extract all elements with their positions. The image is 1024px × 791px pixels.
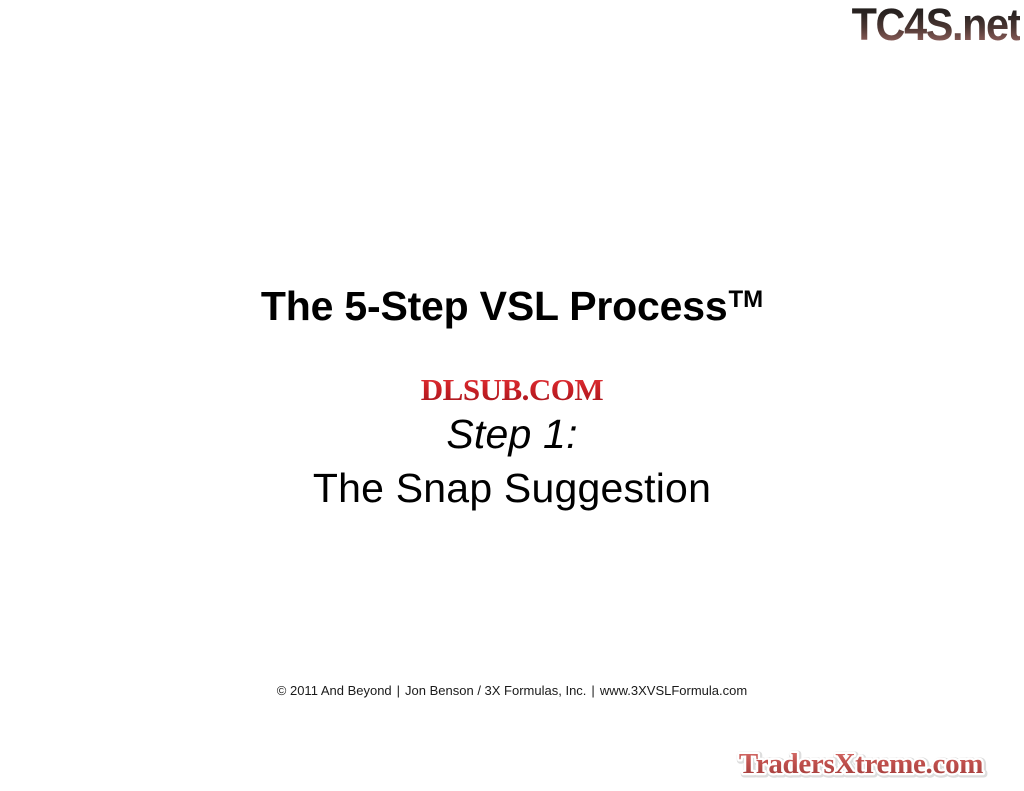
tc4s-watermark-logo: TC4S.net (852, 1, 1020, 49)
slide-subtitle: Step 1: The Snap Suggestion (0, 408, 1024, 516)
dlsub-watermark-logo: DLSUB.COM DLSUB.COM (366, 373, 658, 409)
copyright-notice: © 2011 And Beyond (277, 683, 392, 698)
copyright-website: www.3XVSLFormula.com (600, 683, 747, 698)
copyright-author: Jon Benson / 3X Formulas, Inc. (405, 683, 586, 698)
subtitle-step-name: The Snap Suggestion (0, 460, 1024, 516)
dlsub-watermark-svg: DLSUB.COM DLSUB.COM (366, 373, 658, 409)
slide-title-text: The 5-Step VSL Process (261, 283, 728, 329)
tradersxtreme-watermark-svg: TradersXtreme.com TradersXtreme.com Trad… (710, 747, 1014, 783)
dlsub-text-fill: DLSUB.COM (421, 373, 604, 407)
presentation-slide: TC4S.net The 5-Step VSL ProcessTM DLSUB.… (0, 0, 1024, 791)
copyright-footer: © 2011 And Beyond|Jon Benson / 3X Formul… (0, 682, 1024, 699)
trademark-symbol: TM (728, 286, 763, 313)
tradersxtreme-text-fill: TradersXtreme.com (739, 748, 983, 780)
slide-title: The 5-Step VSL ProcessTM (0, 276, 1024, 330)
copyright-separator-2: | (586, 683, 599, 698)
copyright-separator-1: | (392, 683, 405, 698)
subtitle-step-label: Step 1: (0, 408, 1024, 460)
tradersxtreme-watermark-logo: TradersXtreme.com TradersXtreme.com Trad… (710, 747, 1014, 783)
